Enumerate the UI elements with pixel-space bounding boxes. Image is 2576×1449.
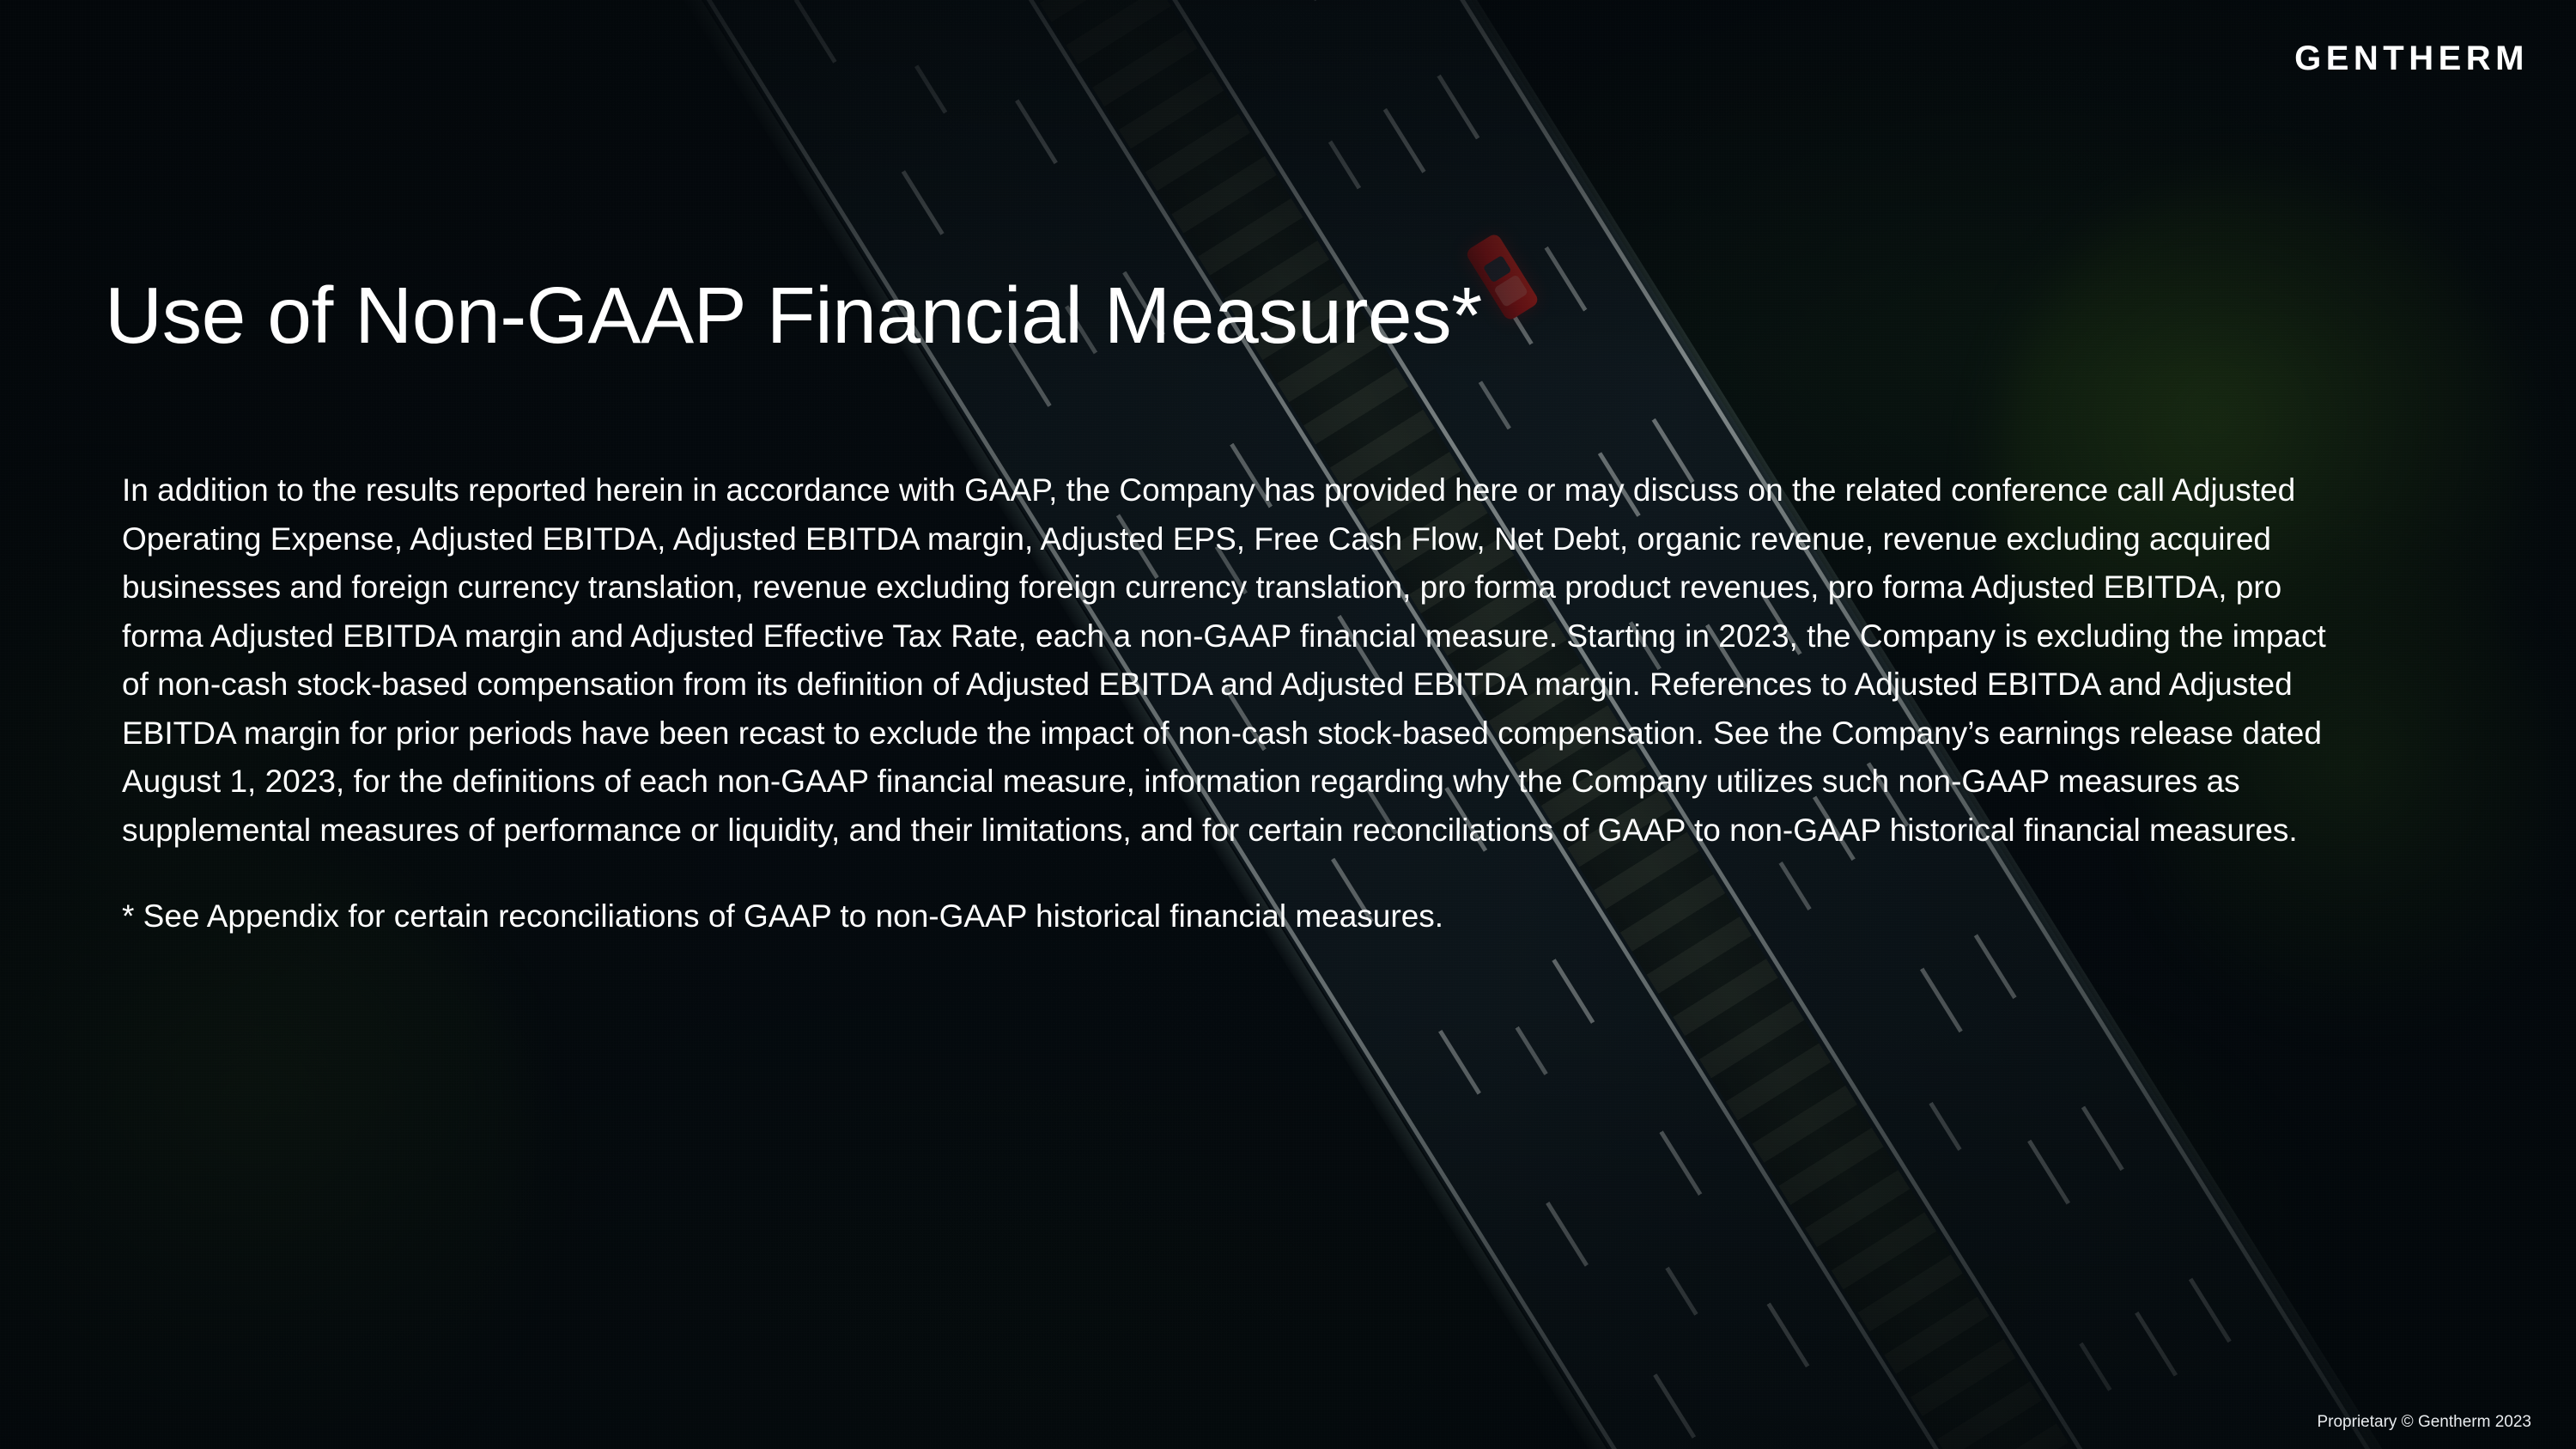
body-text-block: In addition to the results reported here… — [122, 466, 2346, 941]
page-title: Use of Non-GAAP Financial Measures* — [105, 272, 1482, 358]
copyright-footer: Proprietary © Gentherm 2023 — [2317, 1414, 2531, 1430]
appendix-footnote: * See Appendix for certain reconciliatio… — [122, 892, 2346, 941]
slide-content: GENTHERM Use of Non-GAAP Financial Measu… — [0, 0, 2576, 1449]
slide: GENTHERM Use of Non-GAAP Financial Measu… — [0, 0, 2576, 1449]
gentherm-logo: GENTHERM — [2294, 41, 2529, 76]
non-gaap-description-paragraph: In addition to the results reported here… — [122, 466, 2346, 855]
